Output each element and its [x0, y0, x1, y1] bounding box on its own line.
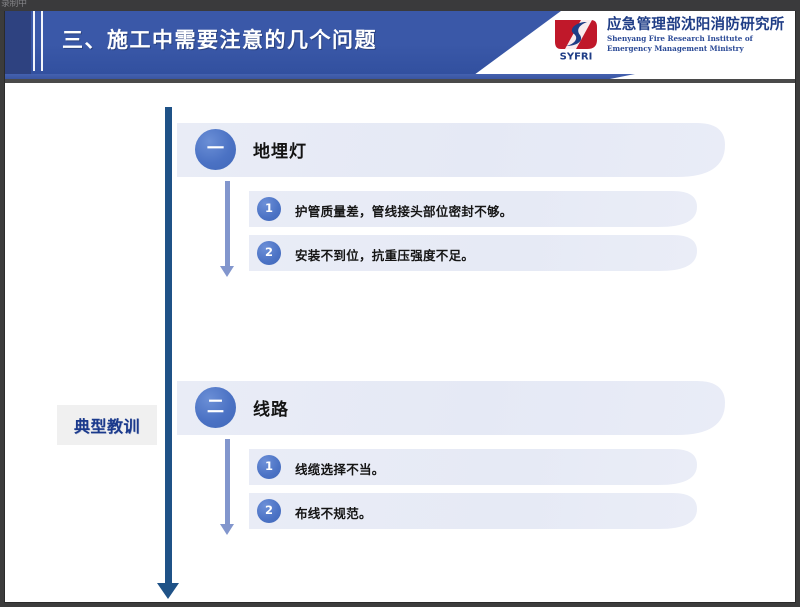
typical-lessons-label: 典型教训: [57, 405, 157, 445]
item-number-badge: 2: [257, 241, 281, 265]
slide-header: 三、施工中需要注意的几个问题 SYFRI 应急管理部沈阳消防研究所 Shenya…: [5, 8, 796, 74]
section-sub-arrow-line-1: [225, 181, 230, 267]
section-sub-arrow-head-icon-2: [220, 524, 234, 535]
main-flow-arrow-line: [165, 107, 172, 587]
section-title-1: 地埋灯: [253, 137, 307, 162]
section-group-1: 一 地埋灯 1 护管质量差，管线接头部位密封不够。 2 安装不到位，抗重压强度不…: [177, 123, 725, 177]
section-sub-arrow-head-icon-1: [220, 266, 234, 277]
organization-logo: SYFRI 应急管理部沈阳消防研究所 Shenyang Fire Researc…: [551, 16, 795, 68]
organization-name-en: Shenyang Fire Research Institute of Emer…: [607, 34, 787, 53]
list-item: 2 布线不规范。: [249, 493, 697, 529]
section-header-2: 二 线路: [177, 381, 725, 435]
item-number-badge: 1: [257, 197, 281, 221]
main-flow-arrow-head-icon: [157, 583, 179, 599]
logo-text-block: 应急管理部沈阳消防研究所 Shenyang Fire Research Inst…: [607, 16, 787, 53]
item-text: 安装不到位，抗重压强度不足。: [295, 245, 474, 264]
list-item: 1 护管质量差，管线接头部位密封不够。: [249, 191, 697, 227]
item-number-badge: 1: [257, 455, 281, 479]
item-text: 布线不规范。: [295, 503, 372, 522]
slide-body: 典型教训 一 地埋灯 1 护管质量差，管线接头部位密封不够。 2 安装不到位，抗…: [5, 83, 796, 603]
section-header-1: 一 地埋灯: [177, 123, 725, 177]
typical-lessons-label-text: 典型教训: [74, 413, 140, 437]
section-title-2: 线路: [253, 395, 289, 420]
recording-status-bar: 录制中: [0, 0, 800, 11]
list-item: 2 安装不到位，抗重压强度不足。: [249, 235, 697, 271]
header-divider-rule-1: [33, 11, 35, 71]
header-divider-rule-2: [41, 11, 43, 71]
item-number-badge: 2: [257, 499, 281, 523]
section-marker-badge-2: 二: [195, 387, 236, 428]
section-sub-arrow-line-2: [225, 439, 230, 525]
item-text: 线缆选择不当。: [295, 459, 385, 478]
section-group-2: 二 线路 1 线缆选择不当。 2 布线不规范。: [177, 381, 725, 435]
organization-name-cn: 应急管理部沈阳消防研究所: [607, 17, 787, 34]
recording-status-label: 录制中: [1, 0, 27, 10]
list-item: 1 线缆选择不当。: [249, 449, 697, 485]
page-title: 三、施工中需要注意的几个问题: [62, 24, 377, 54]
syfri-swirl-logo-icon: SYFRI: [551, 16, 601, 62]
logo-wordmark: SYFRI: [560, 52, 593, 63]
slide-canvas: 三、施工中需要注意的几个问题 SYFRI 应急管理部沈阳消防研究所 Shenya…: [4, 7, 796, 603]
item-text: 护管质量差，管线接头部位密封不够。: [295, 201, 513, 220]
section-marker-badge-1: 一: [195, 129, 236, 170]
